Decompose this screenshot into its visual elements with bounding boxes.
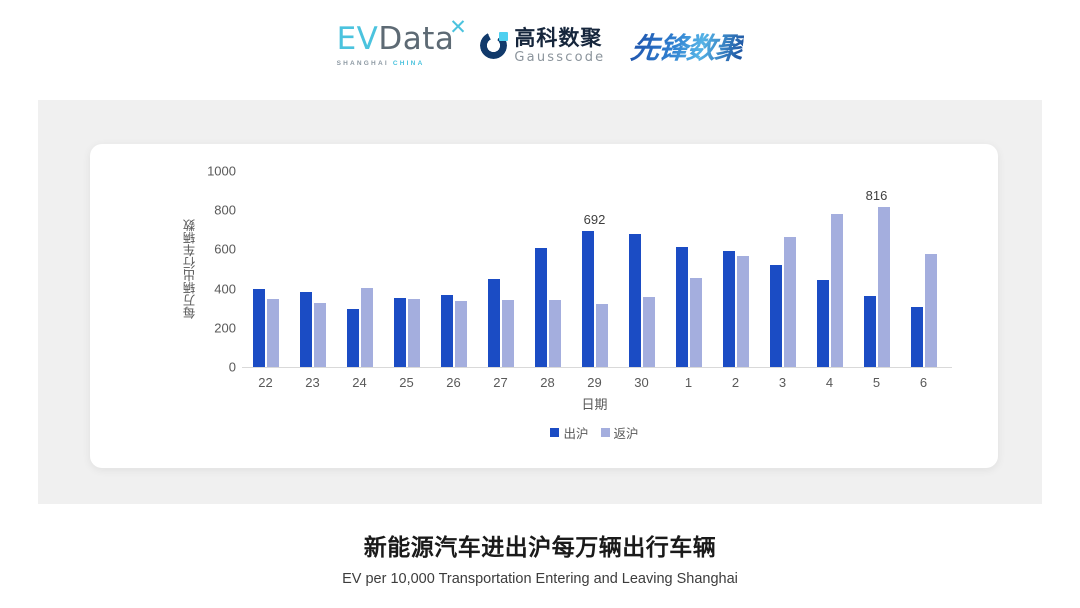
bar[interactable] — [267, 299, 279, 367]
x-axis-tick-label: 27 — [477, 375, 524, 390]
x-axis-tick-label: 22 — [242, 375, 289, 390]
legend-label: 返沪 — [614, 423, 639, 442]
y-axis-tick-label: 0 — [229, 360, 236, 375]
bar-group — [665, 171, 712, 367]
gausscode-wordmark: 高科数聚 Gausscode — [514, 28, 605, 64]
bar[interactable] — [925, 254, 937, 367]
bar-group — [336, 171, 383, 367]
y-axis-ticks: 02004006008001000 — [198, 171, 240, 367]
bar-group — [242, 171, 289, 367]
bar[interactable] — [361, 288, 373, 367]
evdata-subtitle-country: CHINA — [393, 60, 425, 67]
bar-group — [524, 171, 571, 367]
bar[interactable] — [455, 301, 467, 367]
square-accent-icon — [499, 32, 508, 41]
bar[interactable] — [878, 207, 890, 367]
x-axis-ticks: 222324252627282930123456 — [242, 372, 947, 392]
y-axis-tick-label: 600 — [214, 242, 236, 257]
page-subtitle: EV per 10,000 Transportation Entering an… — [0, 571, 1080, 587]
bar[interactable] — [864, 296, 876, 367]
gausscode-en-text: Gausscode — [514, 51, 605, 64]
bar-group: 816 — [853, 171, 900, 367]
x-axis-tick-label: 5 — [853, 375, 900, 390]
y-axis-tick-label: 400 — [214, 281, 236, 296]
bar-group — [900, 171, 947, 367]
y-axis-tick-label: 1000 — [207, 164, 236, 179]
bar[interactable] — [300, 292, 312, 367]
bar[interactable] — [817, 280, 829, 367]
evdata-logo: EVData ✕ SHANGHAI CHINA — [337, 24, 455, 67]
bar[interactable] — [549, 300, 561, 367]
legend-swatch-icon — [601, 428, 610, 437]
x-axis-tick-label: 1 — [665, 375, 712, 390]
plot-area: 692816 — [242, 171, 947, 367]
x-axis-tick-label: 6 — [900, 375, 947, 390]
x-axis-tick-label: 29 — [571, 375, 618, 390]
evdata-subtitle: SHANGHAI CHINA — [337, 60, 425, 67]
footer-titles: 新能源汽车进出沪每万辆出行车辆 EV per 10,000 Transporta… — [0, 528, 1080, 587]
chart-card: 每万辆出行车辆数 02004006008001000 692816 222324… — [90, 144, 998, 468]
y-axis-tick-label: 200 — [214, 320, 236, 335]
logo-bar: EVData ✕ SHANGHAI CHINA 高科数聚 Gausscode 先… — [0, 24, 1080, 67]
bar-value-label: 816 — [866, 188, 888, 203]
x-axis-tick-label: 28 — [524, 375, 571, 390]
legend-item[interactable]: 出沪 — [550, 423, 588, 442]
chart-legend: 出沪返沪 — [242, 423, 947, 442]
bar[interactable] — [676, 247, 688, 367]
evdata-ev-text: EV — [337, 24, 379, 55]
bar[interactable] — [441, 295, 453, 367]
bar[interactable] — [488, 279, 500, 367]
bar[interactable] — [643, 297, 655, 367]
bar[interactable] — [408, 299, 420, 367]
x-axis-tick-label: 26 — [430, 375, 477, 390]
bar-group — [806, 171, 853, 367]
x-axis-tick-label: 3 — [759, 375, 806, 390]
evdata-wordmark: EVData ✕ — [337, 24, 455, 55]
gausscode-mark-icon — [480, 32, 507, 59]
y-axis-tick-label: 800 — [214, 203, 236, 218]
bar-group — [289, 171, 336, 367]
bar-chart: 每万辆出行车辆数 02004006008001000 692816 222324… — [90, 144, 998, 468]
xianfeng-cn-text: 先锋数聚 — [629, 25, 745, 67]
y-axis-title: 每万辆出行车辆数 — [182, 204, 198, 334]
evdata-subtitle-city: SHANGHAI — [337, 60, 389, 67]
bar-groups: 692816 — [242, 171, 947, 367]
bar[interactable] — [784, 237, 796, 367]
page-title: 新能源汽车进出沪每万辆出行车辆 — [0, 528, 1080, 562]
x-axis-title: 日期 — [242, 394, 947, 413]
evdata-data-text: Data — [378, 24, 454, 55]
x-axis-baseline — [242, 367, 952, 368]
bar-group — [430, 171, 477, 367]
legend-swatch-icon — [550, 428, 559, 437]
bar[interactable] — [394, 298, 406, 367]
bar[interactable] — [582, 231, 594, 367]
bar-group: 692 — [571, 171, 618, 367]
bar[interactable] — [690, 278, 702, 367]
legend-label: 出沪 — [563, 423, 588, 442]
bar[interactable] — [911, 307, 923, 367]
bar[interactable] — [723, 251, 735, 367]
bar-group — [477, 171, 524, 367]
gausscode-logo: 高科数聚 Gausscode — [480, 28, 605, 64]
bar[interactable] — [737, 256, 749, 367]
x-axis-tick-label: 23 — [289, 375, 336, 390]
bar[interactable] — [596, 304, 608, 367]
xianfeng-logo: 先锋数聚 — [631, 25, 743, 67]
bar[interactable] — [253, 289, 265, 367]
bar[interactable] — [770, 265, 782, 367]
bar[interactable] — [535, 248, 547, 367]
x-axis-tick-label: 25 — [383, 375, 430, 390]
x-axis-tick-label: 24 — [336, 375, 383, 390]
bar[interactable] — [347, 309, 359, 367]
bar[interactable] — [314, 303, 326, 367]
x-axis-tick-label: 4 — [806, 375, 853, 390]
bar-group — [618, 171, 665, 367]
bar[interactable] — [831, 214, 843, 367]
gausscode-cn-text: 高科数聚 — [514, 28, 605, 49]
bar[interactable] — [629, 234, 641, 367]
bar-group — [759, 171, 806, 367]
bar-group — [712, 171, 759, 367]
cross-icon: ✕ — [449, 17, 467, 38]
x-axis-tick-label: 30 — [618, 375, 665, 390]
x-axis-tick-label: 2 — [712, 375, 759, 390]
bar[interactable] — [502, 300, 514, 367]
bar-value-label: 692 — [584, 212, 606, 227]
legend-item[interactable]: 返沪 — [601, 423, 639, 442]
page-root: EVData ✕ SHANGHAI CHINA 高科数聚 Gausscode 先… — [0, 0, 1080, 608]
bar-group — [383, 171, 430, 367]
